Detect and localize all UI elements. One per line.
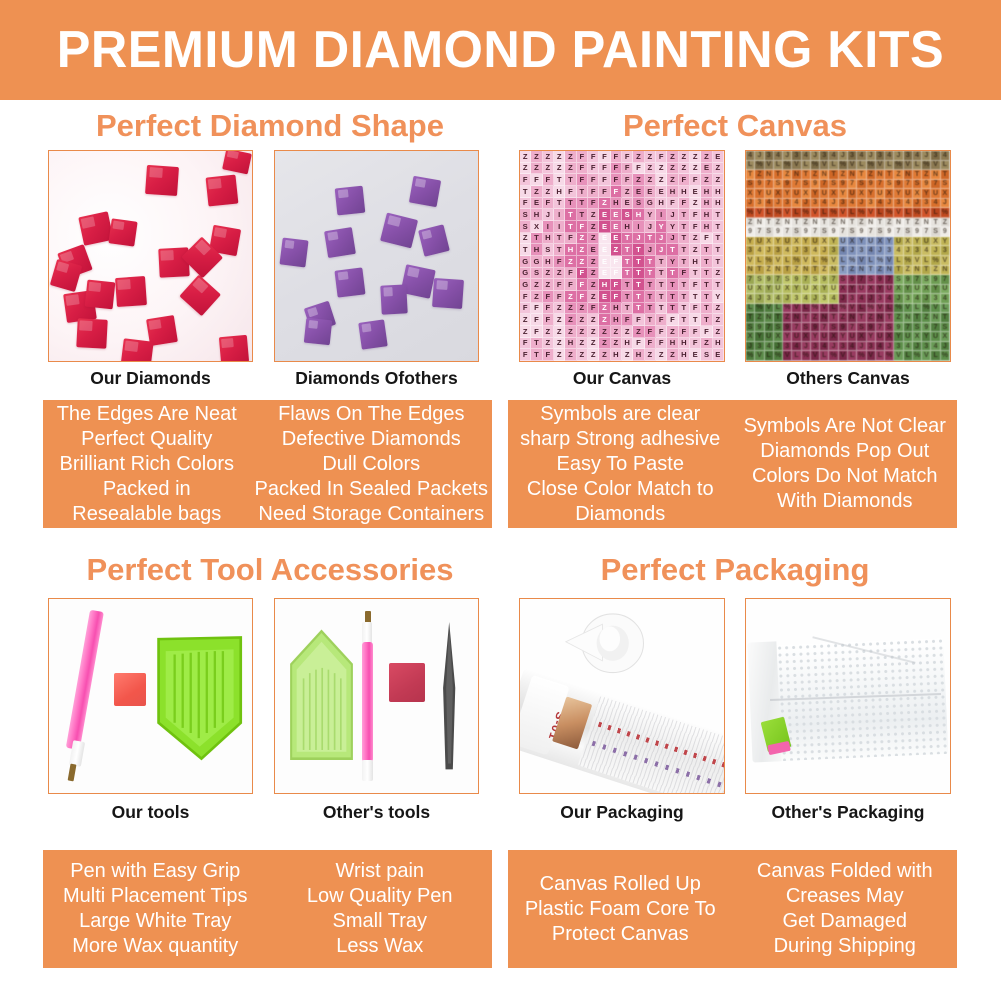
canvas-cell: Z — [565, 326, 576, 338]
feature-line: Need Storage Containers — [258, 502, 484, 527]
canvas-cell: J — [857, 199, 866, 209]
canvas-cell: X — [746, 332, 755, 342]
canvas-cell: T — [792, 218, 801, 228]
canvas-cell: T — [746, 313, 755, 323]
canvas-cell: 3 — [829, 246, 838, 256]
canvas-cell: F — [565, 233, 576, 245]
canvas-cell: F — [679, 174, 690, 186]
canvas-cell: E — [588, 244, 599, 256]
canvas-cell: T — [774, 313, 783, 323]
canvas-cell: Z — [713, 163, 724, 175]
canvas-cell: V — [839, 208, 848, 218]
canvas-cell: N — [931, 170, 940, 180]
canvas-cell: L — [857, 161, 866, 171]
feature-line: The Edges Are Neat — [57, 402, 237, 427]
canvas-cell: 4 — [774, 294, 783, 304]
canvas-cell: 7 — [820, 323, 829, 333]
pen-point — [68, 763, 77, 781]
canvas-cell: Z — [645, 163, 656, 175]
canvas-cell: Y — [904, 285, 913, 295]
canvas-cell: 7 — [746, 275, 755, 285]
canvas-cell: F — [599, 186, 610, 198]
canvas-cell: 9 — [885, 227, 894, 237]
canvas-cell: V — [820, 304, 829, 314]
canvas-cell: Z — [701, 338, 712, 350]
canvas-cell: Z — [577, 244, 588, 256]
canvas-cell: Y — [765, 285, 774, 295]
canvas-cell: T — [885, 170, 894, 180]
feature-panel-canvas: Symbols are clear sharp Strong adhesive … — [508, 400, 957, 528]
canvas-cell: L — [774, 304, 783, 314]
canvas-cell: % — [876, 256, 885, 266]
canvas-cell: Z — [941, 218, 950, 228]
canvas-cell: Z — [588, 209, 599, 221]
canvas-cell: N — [792, 313, 801, 323]
canvas-cell: Y — [774, 237, 783, 247]
canvas-cell: H — [599, 279, 610, 291]
feature-col-our-canvas: Symbols are clear sharp Strong adhesive … — [508, 400, 733, 528]
canvas-cell: V — [755, 351, 764, 361]
canvas-cell: E — [611, 233, 622, 245]
canvas-cell: Z — [922, 313, 931, 323]
canvas-cell: 3 — [848, 294, 857, 304]
canvas-cell: Z — [531, 151, 542, 163]
canvas-cell: F — [656, 326, 667, 338]
canvas-cell: F — [656, 314, 667, 326]
canvas-cell: S — [520, 221, 531, 233]
canvas-cell: Y — [922, 189, 931, 199]
canvas-cell: F — [543, 198, 554, 210]
canvas-cell: F — [577, 221, 588, 233]
canvas-cell: F — [679, 326, 690, 338]
canvas-cell: F — [679, 268, 690, 280]
canvas-cell: 9 — [839, 180, 848, 190]
canvas-cell: Z — [633, 151, 644, 163]
canvas-cell: U — [746, 285, 755, 295]
feature-line: More Wax quantity — [72, 934, 238, 959]
canvas-cell: F — [543, 303, 554, 315]
canvas-cell: F — [531, 303, 542, 315]
canvas-cell: T — [554, 233, 565, 245]
canvas-cell: H — [611, 314, 622, 326]
canvas-cell: F — [599, 151, 610, 163]
canvas-cell: S — [857, 180, 866, 190]
canvas-cell: Z — [588, 256, 599, 268]
canvas-cell: U — [783, 237, 792, 247]
canvas-cell: 7 — [876, 323, 885, 333]
canvas-cell: % — [820, 256, 829, 266]
canvas-cell: U — [765, 189, 774, 199]
canvas-cell: X — [829, 189, 838, 199]
canvas-cell: H — [633, 349, 644, 361]
canvas-cell: F — [611, 163, 622, 175]
canvas-cell: E — [599, 291, 610, 303]
canvas-cell: E — [633, 186, 644, 198]
canvas-cell: Y — [922, 332, 931, 342]
canvas-cell: Z — [565, 151, 576, 163]
canvas-cell: T — [531, 233, 542, 245]
canvas-cell: J — [885, 199, 894, 209]
feature-col-others-canvas: Symbols Are Not Clear Diamonds Pop Out C… — [733, 400, 958, 528]
canvas-cell: T — [690, 291, 701, 303]
canvas-cell: X — [802, 332, 811, 342]
canvas-cell: Z — [667, 349, 678, 361]
canvas-cell: F — [588, 151, 599, 163]
canvas-cell: E — [645, 186, 656, 198]
canvas-cell: X — [755, 285, 764, 295]
caption-our-packaging: Our Packaging — [519, 802, 725, 823]
canvas-cell: Y — [829, 237, 838, 247]
canvas-cell: F — [520, 338, 531, 350]
other-tools-photo — [275, 599, 478, 793]
canvas-cell: U — [765, 332, 774, 342]
photo-our-canvas: ZZZZZFFFFFZZFZZZZEZZZZZFFFFFFZZZZZEZFFFT… — [519, 150, 725, 362]
canvas-cell: Z — [599, 338, 610, 350]
canvas-cell: Y — [802, 237, 811, 247]
canvas-cell: Z — [633, 326, 644, 338]
canvas-cell: 4 — [820, 199, 829, 209]
feature-line: Flaws On The Edges — [278, 402, 464, 427]
canvas-cell: Z — [667, 174, 678, 186]
canvas-cell: T — [577, 198, 588, 210]
canvas-cell: 3 — [931, 294, 940, 304]
canvas-cell: U — [904, 189, 913, 199]
canvas-cell: Z — [690, 198, 701, 210]
canvas-cell: S — [885, 323, 894, 333]
canvas-cell: S — [876, 227, 885, 237]
canvas-cell: H — [690, 256, 701, 268]
canvas-cell: G — [645, 198, 656, 210]
canvas-cell: F — [531, 326, 542, 338]
canvas-cell: 7 — [848, 180, 857, 190]
canvas-cell: 9 — [867, 323, 876, 333]
canvas-cell: L — [904, 351, 913, 361]
canvas-cell: Y — [894, 332, 903, 342]
canvas-cell: V — [746, 256, 755, 266]
canvas-cell: S — [931, 227, 940, 237]
canvas-cell: L — [913, 304, 922, 314]
canvas-cell: Z — [577, 303, 588, 315]
canvas-cell: N — [922, 218, 931, 228]
canvas-cell: 4 — [820, 342, 829, 352]
canvas-cell: T — [802, 170, 811, 180]
canvas-cell: Z — [867, 170, 876, 180]
caption-other-tools: Other's tools — [274, 802, 479, 823]
canvas-cell: J — [765, 246, 774, 256]
canvas-cell: V — [774, 256, 783, 266]
canvas-cell: E — [599, 233, 610, 245]
canvas-cell: 9 — [922, 323, 931, 333]
feature-line: Dull Colors — [322, 452, 420, 477]
canvas-cell: J — [913, 342, 922, 352]
canvas-cell: Z — [543, 163, 554, 175]
canvas-cell: 4 — [802, 294, 811, 304]
canvas-cell: U — [913, 285, 922, 295]
canvas-cell: Z — [679, 151, 690, 163]
section-heading-diamond-shape: Perfect Diamond Shape — [40, 108, 500, 144]
canvas-cell: Z — [713, 174, 724, 186]
canvas-cell: N — [755, 218, 764, 228]
canvas-cell: J — [867, 294, 876, 304]
canvas-cell: T — [876, 218, 885, 228]
canvas-cell: Y — [783, 332, 792, 342]
canvas-cell: F — [520, 174, 531, 186]
canvas-cell: L — [820, 208, 829, 218]
canvas-cell: V — [792, 161, 801, 171]
canvas-cell: F — [543, 349, 554, 361]
canvas-cell: H — [565, 338, 576, 350]
canvas-cell: % — [913, 351, 922, 361]
canvas-cell: 4 — [765, 342, 774, 352]
canvas-cell: Z — [543, 326, 554, 338]
canvas-cell: 9 — [755, 323, 764, 333]
canvas-cell: F — [611, 151, 622, 163]
canvas-cell: H — [611, 303, 622, 315]
canvas-cell: Z — [577, 314, 588, 326]
canvas-cell: Z — [520, 233, 531, 245]
canvas-cell: 9 — [904, 275, 913, 285]
canvas-cell: F — [577, 151, 588, 163]
canvas-cell: T — [690, 268, 701, 280]
canvas-cell: T — [679, 256, 690, 268]
canvas-cell: H — [679, 349, 690, 361]
canvas-cell: Y — [913, 237, 922, 247]
canvas-cell: F — [679, 198, 690, 210]
canvas-cell: T — [667, 268, 678, 280]
feature-line: During Shipping — [774, 934, 916, 959]
canvas-cell: Z — [565, 314, 576, 326]
canvas-cell: H — [679, 186, 690, 198]
canvas-cell: L — [829, 161, 838, 171]
canvas-cell: T — [577, 186, 588, 198]
canvas-cell: H — [622, 221, 633, 233]
canvas-cell: 7 — [755, 227, 764, 237]
canvas-cell: T — [667, 244, 678, 256]
canvas-cell: T — [622, 291, 633, 303]
our-tools-scene — [49, 599, 252, 793]
canvas-cell: S — [867, 275, 876, 285]
canvas-cell: I — [656, 209, 667, 221]
canvas-cell: T — [701, 314, 712, 326]
canvas-cell: 4 — [839, 246, 848, 256]
canvas-cell: Z — [690, 233, 701, 245]
canvas-cell: Z — [531, 186, 542, 198]
canvas-cell: F — [611, 256, 622, 268]
canvas-cell: T — [622, 244, 633, 256]
page-title: PREMIUM DIAMOND PAINTING KITS — [57, 20, 944, 80]
canvas-cell: T — [746, 170, 755, 180]
canvas-cell: U — [885, 285, 894, 295]
canvas-cell: F — [599, 163, 610, 175]
canvas-cell: 3 — [755, 199, 764, 209]
canvas-cell: T — [679, 233, 690, 245]
canvas-cell: 7 — [792, 323, 801, 333]
canvas-cell: J — [802, 199, 811, 209]
canvas-cell: N — [829, 266, 838, 276]
canvas-cell: T — [645, 279, 656, 291]
canvas-cell: F — [656, 338, 667, 350]
canvas-cell: F — [520, 303, 531, 315]
canvas-cell: 3 — [876, 151, 885, 161]
canvas-cell: Z — [520, 314, 531, 326]
canvas-cell: Z — [554, 268, 565, 280]
feature-col-other-diamonds: Flaws On The Edges Defective Diamonds Du… — [251, 400, 492, 528]
canvas-cell: 9 — [755, 180, 764, 190]
canvas-cell: L — [867, 256, 876, 266]
wax-square — [114, 673, 146, 706]
canvas-cell: S — [520, 209, 531, 221]
canvas-cell: H — [554, 186, 565, 198]
canvas-cell: X — [867, 285, 876, 295]
canvas-cell: H — [701, 221, 712, 233]
canvas-cell: 7 — [931, 180, 940, 190]
canvas-cell: Z — [755, 313, 764, 323]
canvas-cell: J — [755, 151, 764, 161]
canvas-cell: E — [599, 268, 610, 280]
canvas-cell: X — [857, 189, 866, 199]
canvas-cell: F — [565, 268, 576, 280]
canvas-cell: H — [543, 233, 554, 245]
canvas-cell: H — [701, 198, 712, 210]
canvas-cell: U — [931, 189, 940, 199]
canvas-cell: U — [774, 285, 783, 295]
canvas-cell: V — [913, 256, 922, 266]
canvas-cell: V — [829, 256, 838, 266]
canvas-cell: 3 — [885, 246, 894, 256]
canvas-cell: 3 — [802, 246, 811, 256]
canvas-cell: Z — [565, 291, 576, 303]
canvas-cell: S — [941, 323, 950, 333]
canvas-cell: U — [848, 189, 857, 199]
canvas-cell: Z — [656, 174, 667, 186]
feature-line: Symbols are clear — [540, 402, 700, 427]
canvas-cell: U — [931, 332, 940, 342]
canvas-cell: T — [774, 170, 783, 180]
canvas-cell: 4 — [876, 342, 885, 352]
canvas-cell: 4 — [802, 151, 811, 161]
canvas-cell: F — [543, 174, 554, 186]
canvas-cell: T — [679, 279, 690, 291]
feature-line: Canvas Folded with — [757, 859, 933, 884]
canvas-cell: Z — [774, 218, 783, 228]
canvas-cell: Z — [904, 266, 913, 276]
canvas-cell: F — [577, 174, 588, 186]
canvas-cell: E — [656, 186, 667, 198]
canvas-cell: F — [588, 198, 599, 210]
canvas-cell: 7 — [829, 275, 838, 285]
canvas-cell: F — [645, 338, 656, 350]
canvas-cell: 4 — [941, 151, 950, 161]
canvas-cell: X — [913, 189, 922, 199]
canvas-cell: F — [667, 314, 678, 326]
canvas-cell: F — [611, 268, 622, 280]
canvas-cell: E — [599, 209, 610, 221]
canvas-cell: U — [829, 285, 838, 295]
canvas-cell: T — [531, 349, 542, 361]
canvas-cell: Z — [520, 151, 531, 163]
canvas-cell: Z — [811, 170, 820, 180]
canvas-cell: T — [679, 221, 690, 233]
canvas-cell: Z — [667, 151, 678, 163]
canvas-cell: 4 — [885, 151, 894, 161]
canvas-cell: T — [922, 266, 931, 276]
feature-line: Diamonds Pop Out — [760, 439, 929, 464]
canvas-cell: H — [679, 338, 690, 350]
canvas-cell: X — [857, 332, 866, 342]
canvas-cell: F — [611, 174, 622, 186]
canvas-cell: S — [746, 323, 755, 333]
canvas-cell: 3 — [922, 199, 931, 209]
canvas-cell: J — [922, 151, 931, 161]
canvas-cell: % — [829, 351, 838, 361]
canvas-cell: H — [713, 186, 724, 198]
canvas-cell: % — [783, 304, 792, 314]
canvas-cell: S — [811, 275, 820, 285]
canvas-cell: J — [913, 199, 922, 209]
canvas-cell: % — [811, 304, 820, 314]
canvas-cell: N — [876, 170, 885, 180]
canvas-cell: F — [690, 338, 701, 350]
canvas-cell: T — [713, 244, 724, 256]
feature-line: Symbols Are Not Clear — [744, 414, 946, 439]
canvas-cell: T — [829, 313, 838, 323]
canvas-cell: Y — [713, 291, 724, 303]
canvas-cell: V — [904, 304, 913, 314]
canvas-cell: S — [802, 323, 811, 333]
canvas-cell: L — [802, 304, 811, 314]
canvas-cell: N — [913, 266, 922, 276]
canvas-cell: % — [774, 208, 783, 218]
canvas-cell: Z — [867, 313, 876, 323]
canvas-cell: V — [922, 351, 931, 361]
canvas-cell: U — [792, 332, 801, 342]
canvas-cell: T — [701, 268, 712, 280]
canvas-cell: N — [839, 218, 848, 228]
canvas-cell: 7 — [885, 275, 894, 285]
feature-line: Easy To Paste — [557, 452, 684, 477]
blurry-color-canvas-photo: 4J34J34J34J34J34J34J34L%VL%VL%VL%VL%VL%V… — [746, 151, 950, 361]
canvas-cell: T — [667, 279, 678, 291]
canvas-cell: 9 — [802, 227, 811, 237]
canvas-cell: % — [848, 256, 857, 266]
canvas-cell: G — [520, 268, 531, 280]
canvas-cell: N — [904, 313, 913, 323]
canvas-cell: Z — [701, 174, 712, 186]
canvas-cell: L — [931, 208, 940, 218]
canvas-cell: 4 — [746, 151, 755, 161]
canvas-cell: V — [922, 208, 931, 218]
canvas-cell: T — [894, 266, 903, 276]
canvas-cell: T — [679, 314, 690, 326]
canvas-cell: F — [690, 221, 701, 233]
canvas-cell: Z — [577, 349, 588, 361]
canvas-cell: S — [839, 275, 848, 285]
canvas-cell: T — [783, 266, 792, 276]
canvas-cell: S — [802, 180, 811, 190]
canvas-cell: % — [885, 208, 894, 218]
canvas-cell: V — [894, 208, 903, 218]
purple-diamonds-scene — [275, 151, 478, 361]
canvas-cell: J — [839, 151, 848, 161]
canvas-cell: T — [839, 266, 848, 276]
canvas-cell: S — [633, 198, 644, 210]
canvas-cell: Z — [820, 266, 829, 276]
canvas-cell: G — [520, 279, 531, 291]
canvas-cell: 3 — [755, 342, 764, 352]
canvas-cell: L — [755, 256, 764, 266]
canvas-cell: Z — [611, 326, 622, 338]
canvas-cell: Z — [792, 266, 801, 276]
